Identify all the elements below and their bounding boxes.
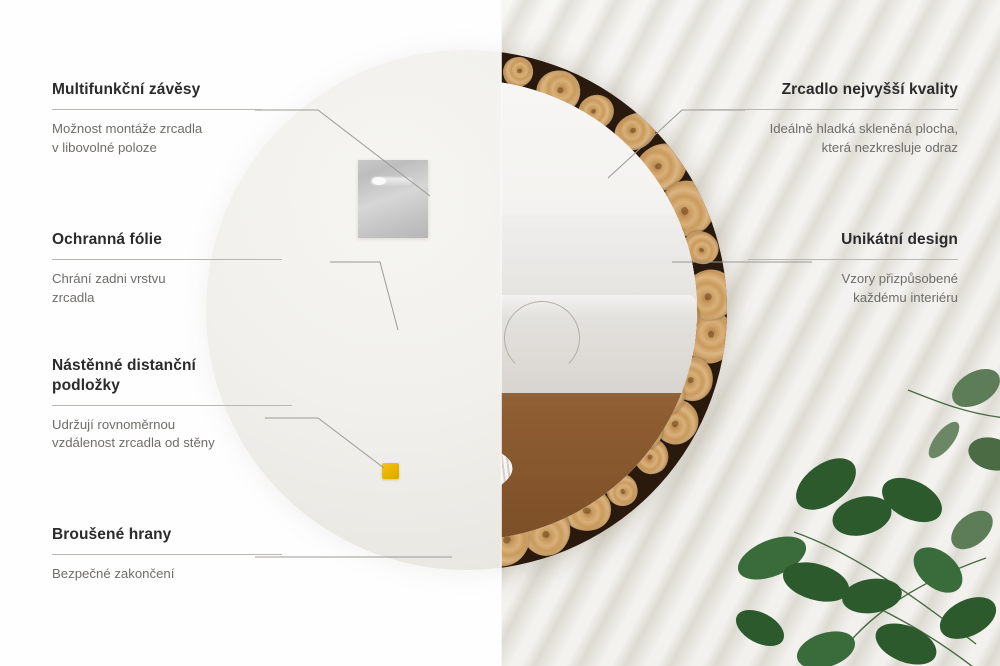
leader-line-foil [330,262,398,330]
callout-wall-spacers: Nástěnné distanční podložky Udržují rovn… [52,356,292,453]
callout-title: Zrcadlo nejvyšší kvality [698,80,958,100]
callout-title-line-1: Nástěnné distanční [52,357,196,374]
leader-line-hangers [255,110,430,196]
callout-body: Ideálně hladká skleněná plocha, která ne… [698,120,958,157]
callout-body-line-2: každému interiéru [853,290,958,305]
callout-body-line-1: Ideálně hladká skleněná plocha, [770,121,958,136]
callout-title: Multifunkční závěsy [52,80,262,100]
callout-rule [698,109,958,110]
callout-body-line-2: vzdálenost zrcadla od stěny [52,435,215,450]
callout-body-line-2: zrcadla [52,290,95,305]
callout-body-line-2: která nezkresluje odraz [822,140,958,155]
infographic-stage: Multifunkční závěsy Možnost montáže zrca… [0,0,1000,666]
callout-ground-edges: Broušené hrany Bezpečné zakončení [52,525,282,584]
callout-highest-quality-mirror: Zrcadlo nejvyšší kvality Ideálně hladká … [698,80,958,157]
callout-title: Broušené hrany [52,525,282,545]
callout-protective-foil: Ochranná fólie Chrání zadni vrstvu zrcad… [52,230,282,307]
callout-body-line-1: Chrání zadni vrstvu [52,271,166,286]
callout-body: Chrání zadni vrstvu zrcadla [52,270,282,307]
callout-body: Vzory přizpůsobené každému interiéru [748,270,958,307]
callout-title: Nástěnné distanční podložky [52,356,292,396]
callout-rule [52,554,282,555]
callout-body: Možnost montáže zrcadla v libovolné polo… [52,120,262,157]
callout-title: Unikátní design [748,230,958,250]
callout-body-line-2: v libovolné poloze [52,140,157,155]
callout-rule [52,405,292,406]
callout-rule [52,109,262,110]
callout-body: Bezpečné zakončení [52,565,282,584]
callout-body: Udržují rovnoměrnou vzdálenost zrcadla o… [52,416,292,453]
callout-rule [748,259,958,260]
callout-body-line-1: Možnost montáže zrcadla [52,121,202,136]
callout-body-line-1: Udržují rovnoměrnou [52,417,175,432]
callout-body-line-1: Vzory přizpůsobené [841,271,958,286]
callout-title-line-2: podložky [52,377,120,394]
callout-title: Ochranná fólie [52,230,282,250]
callout-rule [52,259,282,260]
callout-unique-design: Unikátní design Vzory přizpůsobené každé… [748,230,958,307]
callout-multifunctional-hangers: Multifunkční závěsy Možnost montáže zrca… [52,80,262,157]
